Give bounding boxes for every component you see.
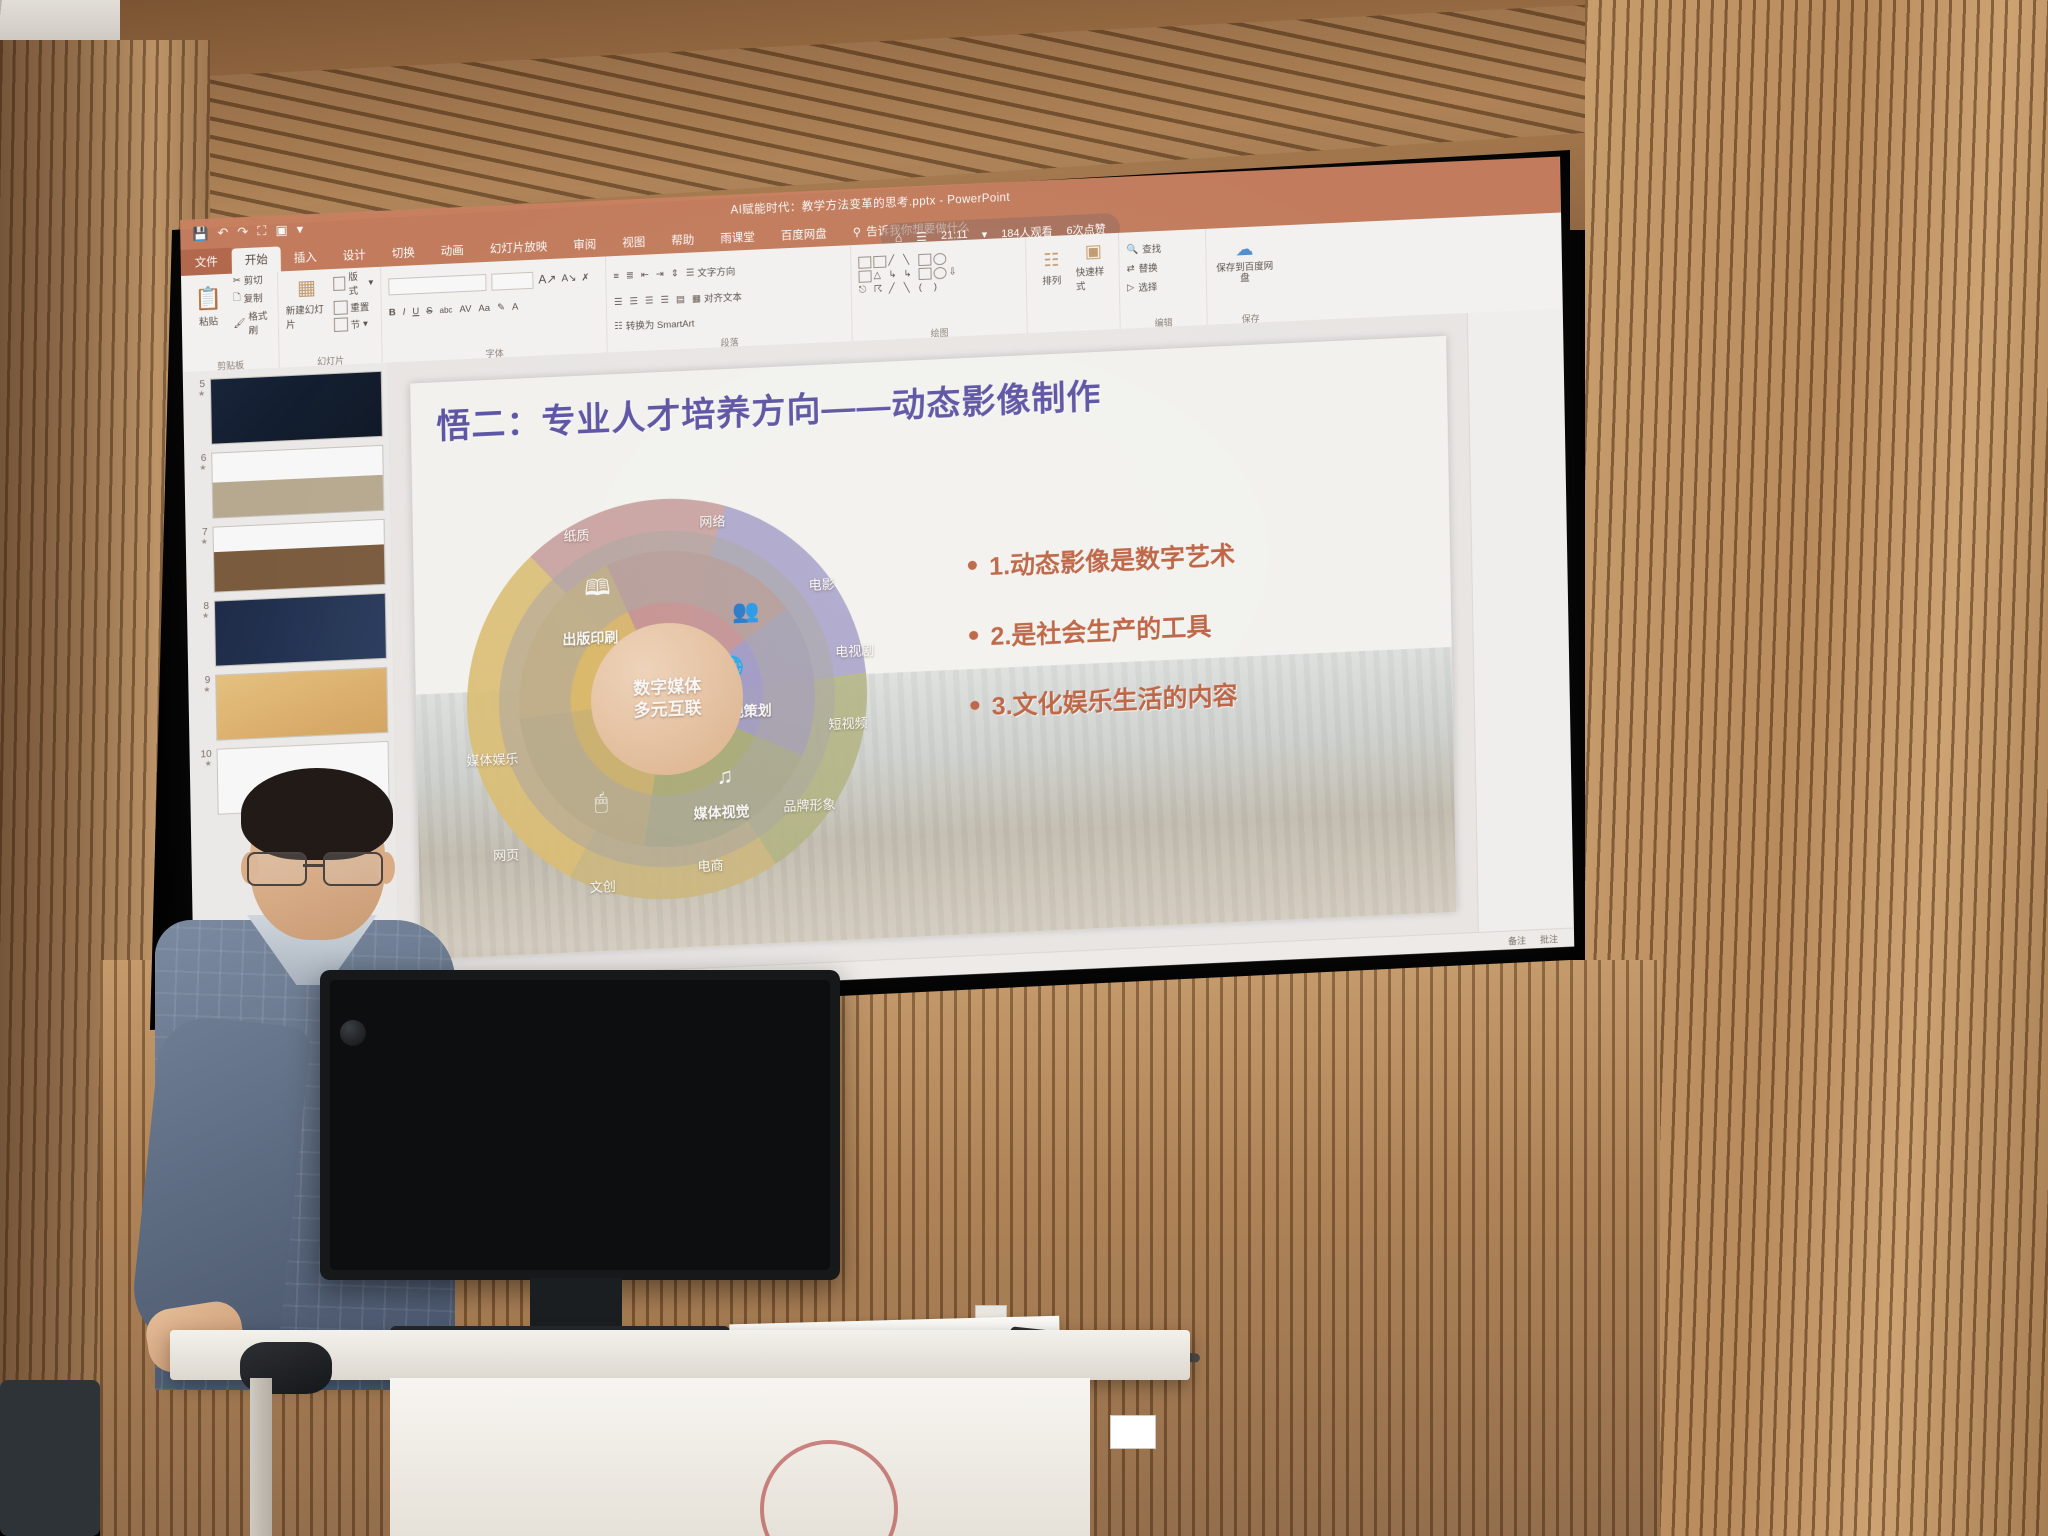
- comments-button[interactable]: 批注: [1540, 932, 1558, 946]
- hub-line-2: 多元互联: [633, 697, 701, 721]
- convert-to-smartart-button[interactable]: ☷ 转换为 SmartArt: [614, 315, 694, 333]
- format-painter-button[interactable]: 🖌 格式刷: [233, 308, 271, 338]
- current-slide[interactable]: 悟二：专业人才培养方向——动态影像制作 纸质 网络 电影 电视剧 短视频 品牌形…: [410, 336, 1457, 960]
- ribbon-tab-help[interactable]: 帮助: [658, 227, 707, 254]
- digital-media-donut-diagram: 纸质 网络 电影 电视剧 短视频 品牌形象 电商 文创 网页 媒体娱乐 出版印刷…: [464, 489, 871, 907]
- bullet-item: 3.文化娱乐生活的内容: [970, 667, 1427, 724]
- notes-button[interactable]: 备注: [1508, 933, 1526, 947]
- mouse-icon: 🖱: [594, 788, 608, 815]
- thumbnail-preview: [211, 445, 384, 519]
- paintbrush-icon: 🖌: [233, 318, 245, 330]
- smartart-icon: ☷: [614, 320, 623, 331]
- bullet-text: 1.动态影像是数字艺术: [989, 536, 1236, 583]
- cut-button[interactable]: ✂ 剪切: [233, 272, 271, 288]
- select-icon: ▷: [1127, 282, 1135, 293]
- decrease-indent-icon[interactable]: ⇤: [641, 269, 649, 280]
- copy-button[interactable]: 🗋 复制: [233, 289, 271, 307]
- new-slide-button[interactable]: ▦ 新建幻灯片: [285, 274, 329, 331]
- donut-label-webpage: 网页: [493, 844, 519, 864]
- donut-label-network: 网络: [699, 510, 725, 530]
- thumbnail-preview: [213, 519, 386, 593]
- replace-button[interactable]: ⇄ 替换: [1127, 258, 1199, 275]
- text-highlight-icon[interactable]: ✎: [497, 302, 505, 313]
- cloud-upload-icon: ☁: [1235, 239, 1253, 261]
- bullet-item: 2.是社会生产的工具: [969, 597, 1426, 654]
- ribbon-tab-view[interactable]: 视图: [609, 229, 658, 256]
- lecture-room: 💾 ↶ ↷ ⛶ ▣ ▾ AI赋能时代：教学方法变革的思考.pptx - Powe…: [0, 0, 2048, 1536]
- character-spacing-button[interactable]: AV: [459, 303, 471, 315]
- bullet-dot-icon: [971, 701, 980, 710]
- donut-label-tv-series: 电视剧: [835, 639, 874, 660]
- ribbon-group-drawing: ╱╲ △↳↳⇩ ⎋☈╱╲() 绘图: [851, 237, 1028, 345]
- reset-button[interactable]: 重置: [333, 299, 374, 315]
- ribbon-group-clipboard: 📋 粘贴 ✂ 剪切 🗋 复制: [181, 272, 280, 376]
- select-button[interactable]: ▷ 选择: [1127, 277, 1199, 294]
- justify-icon[interactable]: ☰: [660, 294, 669, 305]
- ribbon-tab-transitions[interactable]: 切换: [379, 240, 428, 267]
- new-slide-icon: ▦: [297, 274, 316, 300]
- presenter-hair: [241, 768, 393, 860]
- thumbnail-item[interactable]: 9 ★: [188, 663, 394, 746]
- ribbon-tab-file[interactable]: 文件: [181, 248, 232, 276]
- slide-editing-stage[interactable]: 悟二：专业人才培养方向——动态影像制作 纸质 网络 电影 电视剧 短视频 品牌形…: [388, 313, 1479, 983]
- thumbnail-item[interactable]: 5 ★: [183, 367, 389, 450]
- bold-button[interactable]: B: [389, 307, 396, 318]
- strikethrough-button[interactable]: S: [426, 305, 433, 316]
- increase-indent-icon[interactable]: ⇥: [656, 268, 664, 279]
- font-size-input[interactable]: [491, 271, 533, 290]
- font-color-button[interactable]: A: [512, 301, 519, 312]
- paste-button[interactable]: 📋 粘贴: [188, 285, 228, 329]
- chair: [0, 1380, 100, 1536]
- layout-button[interactable]: 版式 ▾: [333, 268, 374, 298]
- clipboard-icon: 📋: [194, 285, 222, 312]
- thumbnail-item[interactable]: 8 ★: [187, 589, 393, 672]
- bullet-text: 2.是社会生产的工具: [990, 607, 1212, 653]
- star-icon: ★: [190, 464, 206, 474]
- donut-label-ecommerce: 电商: [697, 855, 723, 875]
- font-family-input[interactable]: [388, 273, 486, 295]
- bullet-text: 3.文化娱乐生活的内容: [991, 676, 1238, 723]
- ribbon-tab-rain-classroom[interactable]: 雨课堂: [707, 224, 768, 252]
- shadow-button[interactable]: abc: [439, 305, 452, 315]
- copy-icon: 🗋: [233, 290, 241, 306]
- donut-label-film: 电影: [808, 573, 834, 593]
- ribbon-group-slides: ▦ 新建幻灯片 版式 ▾: [278, 267, 383, 372]
- shape-gallery[interactable]: ╱╲ △↳↳⇩ ⎋☈╱╲(): [858, 249, 1019, 296]
- underline-button[interactable]: U: [412, 306, 419, 317]
- arrange-icon: ☷: [1043, 249, 1060, 271]
- chevron-down-icon[interactable]: ▾: [368, 277, 373, 288]
- bullet-item: 1.动态影像是数字艺术: [968, 527, 1425, 584]
- lightbulb-icon: ⚲: [853, 225, 862, 239]
- italic-button[interactable]: I: [403, 306, 406, 317]
- ribbon-tab-home[interactable]: 开始: [232, 246, 281, 273]
- computer-monitor: [320, 970, 840, 1280]
- asset-label-tag: [1110, 1415, 1156, 1449]
- ribbon-group-save: ☁ 保存到百度网盘 保存: [1206, 225, 1294, 329]
- arrange-button[interactable]: ☷ 排列: [1033, 249, 1070, 288]
- bullet-dot-icon: [968, 561, 977, 570]
- quick-styles-icon: ▣: [1085, 240, 1102, 262]
- ribbon-group-font: A↗ A↘ ✗ B I U S abc AV Aa ✎: [381, 256, 608, 366]
- line-spacing-icon[interactable]: ⇕: [671, 268, 679, 279]
- thumbnail-item[interactable]: 6 ★: [184, 441, 390, 524]
- slide-bullet-list: 1.动态影像是数字艺术 2.是社会生产的工具 3.文化娱乐生活的内容: [968, 527, 1428, 758]
- chevron-down-icon[interactable]: ▾: [363, 318, 368, 329]
- save-to-baidu-button[interactable]: ☁ 保存到百度网盘: [1213, 238, 1276, 287]
- ribbon-group-paragraph: ≡ ≣ ⇤ ⇥ ⇕ ☰ 文字方向 ☰ ☰: [606, 245, 853, 356]
- donut-label-brand-image: 品牌形象: [783, 793, 835, 814]
- star-icon: ★: [192, 538, 208, 548]
- slide-title: 悟二：专业人才培养方向——动态影像制作: [436, 354, 1422, 448]
- align-text-button[interactable]: ▦ 对齐文本: [692, 289, 742, 305]
- donut-label-short-video: 短视频: [828, 712, 867, 733]
- donut-label-cultural-creative: 文创: [590, 876, 616, 896]
- decrease-font-icon[interactable]: A↘: [561, 272, 576, 284]
- bulleted-list-icon[interactable]: ≡: [613, 270, 619, 281]
- ribbon-tab-insert[interactable]: 插入: [281, 244, 330, 271]
- donut-inner-label-publishing: 出版印刷: [562, 627, 618, 650]
- quick-styles-button[interactable]: ▣ 快速样式: [1075, 240, 1112, 293]
- layout-icon: [333, 276, 346, 291]
- section-button[interactable]: 节 ▾: [333, 316, 374, 332]
- ribbon-tab-baidu-netdisk[interactable]: 百度网盘: [768, 221, 840, 249]
- thumbnail-preview: [210, 371, 383, 445]
- replace-icon: ⇄: [1127, 263, 1135, 274]
- ribbon-tab-animations[interactable]: 动画: [428, 237, 477, 264]
- book-icon: 🕮: [584, 570, 611, 609]
- clear-formatting-icon[interactable]: ✗: [581, 272, 589, 283]
- change-case-button[interactable]: Aa: [478, 302, 490, 314]
- thumbnail-preview: [215, 667, 388, 741]
- numbered-list-icon[interactable]: ≣: [626, 270, 634, 281]
- align-center-icon[interactable]: ☰: [629, 296, 638, 307]
- text-direction-icon: ☰: [686, 267, 695, 278]
- section-icon: [333, 317, 347, 332]
- ribbon-tab-review[interactable]: 审阅: [560, 231, 609, 258]
- search-icon: 🔍: [1126, 243, 1138, 255]
- ribbon-group-editing: 🔍 查找 ⇄ 替换 ▷ 选择 编辑: [1119, 229, 1208, 333]
- ribbon-group-arrange: ☷ 排列 ▣ 快速样式: [1026, 233, 1121, 337]
- thumbnail-item[interactable]: 7 ★: [185, 515, 391, 598]
- increase-font-icon[interactable]: A↗: [538, 272, 556, 287]
- align-left-icon[interactable]: ☰: [614, 296, 623, 307]
- align-right-icon[interactable]: ☰: [645, 295, 654, 306]
- music-note-icon: ♫: [716, 763, 733, 790]
- text-direction-button[interactable]: ☰ 文字方向: [686, 264, 736, 280]
- star-icon: ★: [189, 390, 205, 400]
- right-task-rail: [1467, 309, 1574, 933]
- columns-icon[interactable]: ▤: [676, 293, 685, 304]
- star-icon: ★: [194, 686, 210, 696]
- reset-icon: [333, 300, 347, 315]
- donut-label-paper: 纸质: [563, 524, 589, 544]
- glasses-icon: [247, 852, 387, 882]
- donut-inner-label-media-visual: 媒体视觉: [693, 801, 749, 824]
- lectern-leg: [250, 1378, 272, 1536]
- find-button[interactable]: 🔍 查找: [1126, 239, 1198, 256]
- ribbon-tab-slideshow[interactable]: 幻灯片放映: [477, 234, 561, 263]
- ribbon-tab-design[interactable]: 设计: [330, 242, 379, 269]
- people-icon: 👥: [732, 597, 760, 624]
- align-text-icon: ▦: [692, 293, 701, 304]
- star-icon: ★: [193, 612, 209, 622]
- lectern-body: [390, 1378, 1090, 1536]
- scissors-icon: ✂: [233, 275, 241, 286]
- bullet-dot-icon: [969, 631, 978, 640]
- webcam-icon: [340, 1020, 366, 1046]
- thumbnail-preview: [214, 593, 387, 667]
